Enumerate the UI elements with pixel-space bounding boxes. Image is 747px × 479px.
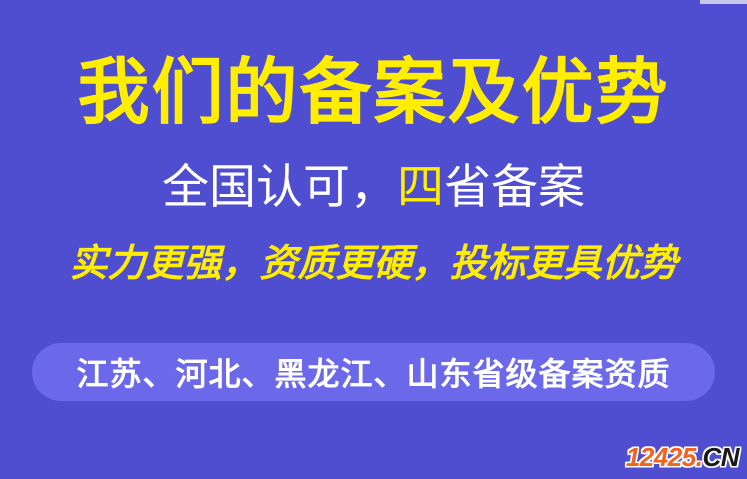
- promo-banner: 我们的备案及优势 全国认可，四省备案 实力更强，资质更硬，投标更具优势 江苏、河…: [0, 0, 747, 479]
- subtitle-highlight: 四: [397, 160, 444, 213]
- page-title: 我们的备案及优势: [0, 57, 747, 129]
- subtitle-line: 全国认可，四省备案: [0, 163, 747, 210]
- watermark-tld: CN: [702, 442, 739, 472]
- subtitle-suffix: 省备案: [444, 160, 585, 213]
- qualification-pill: 江苏、河北、黑龙江、山东省级备案资质: [32, 343, 715, 401]
- tagline-text: 实力更强，资质更硬，投标更具优势: [0, 245, 747, 283]
- qualification-pill-label: 江苏、河北、黑龙江、山东省级备案资质: [76, 349, 670, 395]
- subtitle-prefix: 全国认可，: [162, 160, 397, 213]
- watermark-number: 12425: [626, 442, 696, 472]
- top-accent-bar: [700, 0, 747, 4]
- site-watermark: 12425.CN: [626, 444, 739, 470]
